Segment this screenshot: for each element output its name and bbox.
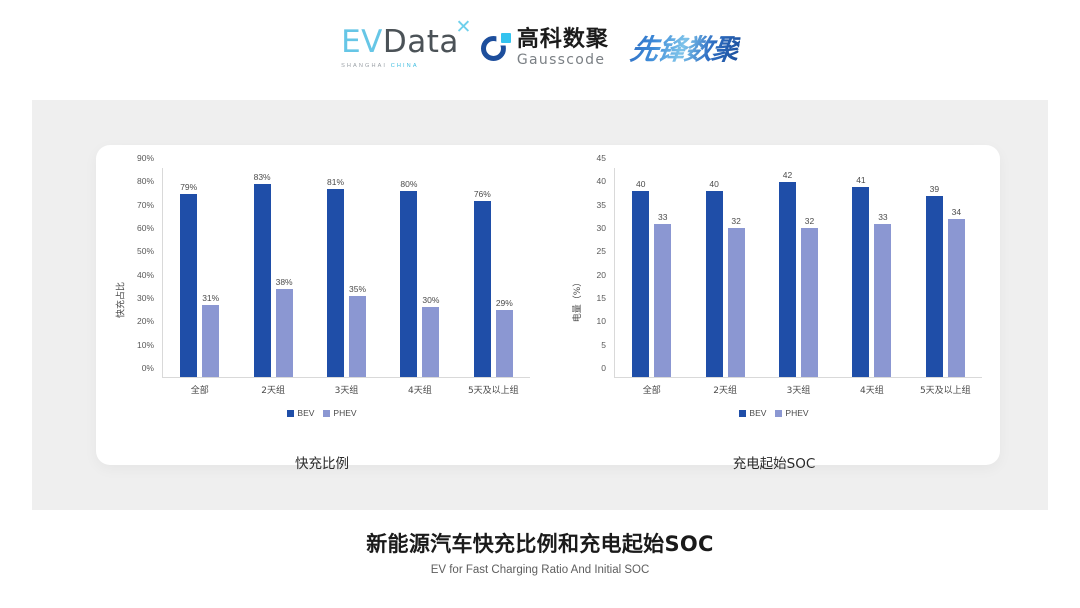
legend-label-bev: BEV xyxy=(297,408,314,418)
y-axis-tick-label: 60% xyxy=(137,223,154,233)
x-axis-tick-label: 4天组 xyxy=(383,383,456,396)
bar-value-label: 39 xyxy=(930,184,939,194)
y-axis-tick-label: 20% xyxy=(137,316,154,326)
evdata-wordmark: EVData ✕ xyxy=(341,27,459,58)
evdata-ev-text: EV xyxy=(341,24,383,60)
logo-bar: EVData ✕ SHANGHAI CHINA 高科数聚 Gausscode 先… xyxy=(0,0,1080,96)
bar-value-label: 80% xyxy=(400,179,417,189)
bar-value-label: 81% xyxy=(327,177,344,187)
bar-value-label: 32 xyxy=(731,216,740,226)
legend-swatch-bev-icon xyxy=(739,410,746,417)
evdata-logo: EVData ✕ SHANGHAI CHINA xyxy=(341,27,459,69)
gausscode-logo: 高科数聚 Gausscode xyxy=(481,29,609,67)
chart-initial-soc: 电量（%） 051015202530354045 403340324232413… xyxy=(548,150,1000,450)
bar-value-label: 34 xyxy=(952,207,961,217)
bar-groups: 40334032423241333934 xyxy=(615,168,982,377)
bar-group: 3934 xyxy=(909,168,982,377)
gausscode-g-mark-icon xyxy=(481,33,511,63)
bar-group: 83%38% xyxy=(236,168,309,377)
legend-swatch-phev-icon xyxy=(323,410,330,417)
bar-group: 81%35% xyxy=(310,168,383,377)
y-axis-tick-label: 0 xyxy=(601,363,606,373)
chart-caption: 快充比例 xyxy=(96,452,548,472)
xianfeng-logo: 先锋数聚 xyxy=(628,28,742,68)
bar-phev[interactable]: 32 xyxy=(728,228,745,377)
page-subtitle: EV for Fast Charging Ratio And Initial S… xyxy=(0,564,1080,576)
y-axis-tick-label: 25 xyxy=(597,246,606,256)
bar-phev[interactable]: 38% xyxy=(276,289,293,377)
bar-phev[interactable]: 30% xyxy=(422,307,439,377)
x-axis-tick-label: 全部 xyxy=(615,383,688,396)
legend-item-bev[interactable]: BEV xyxy=(287,408,314,418)
bar-value-label: 30% xyxy=(422,295,439,305)
charts-row: 快充占比 0%10%20%30%40%50%60%70%80%90% 79%31… xyxy=(96,150,1000,450)
y-axis-tick-label: 40 xyxy=(597,176,606,186)
gausscode-en-text: Gausscode xyxy=(517,53,609,67)
y-axis-tick-label: 10% xyxy=(137,340,154,350)
y-axis-tick-label: 50% xyxy=(137,246,154,256)
bar-value-label: 33 xyxy=(878,212,887,222)
x-axis-labels: 全部2天组3天组4天组5天及以上组 xyxy=(615,383,982,396)
bar-value-label: 42 xyxy=(783,170,792,180)
bar-bev[interactable]: 41 xyxy=(852,187,869,377)
y-axis-tick-label: 30% xyxy=(137,293,154,303)
legend-item-bev[interactable]: BEV xyxy=(739,408,766,418)
g-square-shape xyxy=(501,33,511,43)
bar-group: 4032 xyxy=(688,168,761,377)
y-axis-tick-label: 5 xyxy=(601,340,606,350)
gausscode-cn-text: 高科数聚 xyxy=(517,29,609,51)
bar-group: 79%31% xyxy=(163,168,236,377)
x-axis-tick-label: 5天及以上组 xyxy=(909,383,982,396)
x-axis-line xyxy=(614,377,982,378)
bar-bev[interactable]: 79% xyxy=(180,194,197,377)
evdata-tagline: SHANGHAI CHINA xyxy=(341,63,419,69)
bar-value-label: 40 xyxy=(636,179,645,189)
bar-bev[interactable]: 80% xyxy=(400,191,417,377)
footer-title-block: 新能源汽车快充比例和充电起始SOC EV for Fast Charging R… xyxy=(0,528,1080,576)
evdata-data-text: Data xyxy=(383,24,459,60)
x-axis-tick-label: 2天组 xyxy=(236,383,309,396)
x-cross-icon: ✕ xyxy=(455,18,471,37)
chart-legend: BEV PHEV xyxy=(96,408,548,418)
y-axis-tick-label: 90% xyxy=(137,153,154,163)
bar-value-label: 32 xyxy=(805,216,814,226)
legend-label-phev: PHEV xyxy=(785,408,808,418)
y-axis-tick-label: 40% xyxy=(137,270,154,280)
bar-phev[interactable]: 33 xyxy=(654,224,671,377)
x-axis-tick-label: 5天及以上组 xyxy=(457,383,530,396)
y-axis-tick-label: 30 xyxy=(597,223,606,233)
bar-value-label: 38% xyxy=(276,277,293,287)
legend-swatch-phev-icon xyxy=(775,410,782,417)
y-axis-tick-label: 20 xyxy=(597,270,606,280)
x-axis-tick-label: 4天组 xyxy=(835,383,908,396)
bar-bev[interactable]: 76% xyxy=(474,201,491,377)
chart-caption: 充电起始SOC xyxy=(548,452,1000,472)
plot-area: 051015202530354045 40334032423241333934 xyxy=(614,168,982,378)
bar-value-label: 79% xyxy=(180,182,197,192)
y-axis-tick-label: 10 xyxy=(597,316,606,326)
gausscode-text-block: 高科数聚 Gausscode xyxy=(517,29,609,67)
bar-value-label: 76% xyxy=(474,189,491,199)
bar-value-label: 33 xyxy=(658,212,667,222)
evdata-city-text: SHANGHAI xyxy=(341,63,387,69)
bar-bev[interactable]: 81% xyxy=(327,189,344,377)
bar-bev[interactable]: 42 xyxy=(779,182,796,377)
y-axis-tick-label: 15 xyxy=(597,293,606,303)
y-axis-tick-label: 70% xyxy=(137,200,154,210)
bar-phev[interactable]: 29% xyxy=(496,310,513,377)
bar-bev[interactable]: 83% xyxy=(254,184,271,377)
bar-group: 76%29% xyxy=(457,168,530,377)
page-title: 新能源汽车快充比例和充电起始SOC xyxy=(0,528,1080,558)
legend-label-bev: BEV xyxy=(749,408,766,418)
y-axis-tick-label: 45 xyxy=(597,153,606,163)
x-axis-line xyxy=(162,377,530,378)
bar-phev[interactable]: 32 xyxy=(801,228,818,377)
bar-phev[interactable]: 34 xyxy=(948,219,965,377)
chart-fast-charging-ratio: 快充占比 0%10%20%30%40%50%60%70%80%90% 79%31… xyxy=(96,150,548,450)
x-axis-tick-label: 3天组 xyxy=(762,383,835,396)
legend-swatch-bev-icon xyxy=(287,410,294,417)
x-axis-labels: 全部2天组3天组4天组5天及以上组 xyxy=(163,383,530,396)
y-axis-tick-label: 35 xyxy=(597,200,606,210)
x-axis-tick-label: 3天组 xyxy=(310,383,383,396)
bar-value-label: 29% xyxy=(496,298,513,308)
bar-value-label: 40 xyxy=(709,179,718,189)
bar-group: 4033 xyxy=(615,168,688,377)
bar-groups: 79%31%83%38%81%35%80%30%76%29% xyxy=(163,168,530,377)
bar-group: 4133 xyxy=(835,168,908,377)
evdata-country-text: CHINA xyxy=(391,63,419,69)
y-axis-ticks: 051015202530354045 xyxy=(574,168,610,378)
bar-bev[interactable]: 40 xyxy=(632,191,649,377)
x-axis-tick-label: 2天组 xyxy=(688,383,761,396)
y-axis-ticks: 0%10%20%30%40%50%60%70%80%90% xyxy=(122,168,158,378)
bar-group: 80%30% xyxy=(383,168,456,377)
bar-value-label: 35% xyxy=(349,284,366,294)
bar-phev[interactable]: 35% xyxy=(349,296,366,377)
legend-item-phev[interactable]: PHEV xyxy=(775,408,808,418)
bar-value-label: 41 xyxy=(856,175,865,185)
chart-legend: BEV PHEV xyxy=(548,408,1000,418)
bar-phev[interactable]: 31% xyxy=(202,305,219,377)
bar-bev[interactable]: 39 xyxy=(926,196,943,377)
plot-area: 0%10%20%30%40%50%60%70%80%90% 79%31%83%3… xyxy=(162,168,530,378)
bar-phev[interactable]: 33 xyxy=(874,224,891,377)
legend-item-phev[interactable]: PHEV xyxy=(323,408,356,418)
x-axis-tick-label: 全部 xyxy=(163,383,236,396)
slide-root: { "logos": { "evdata": { "ev": "EV", "da… xyxy=(0,0,1080,608)
legend-label-phev: PHEV xyxy=(333,408,356,418)
bar-value-label: 83% xyxy=(254,172,271,182)
bar-value-label: 31% xyxy=(202,293,219,303)
bar-bev[interactable]: 40 xyxy=(706,191,723,377)
y-axis-tick-label: 0% xyxy=(142,363,154,373)
y-axis-tick-label: 80% xyxy=(137,176,154,186)
bar-group: 4232 xyxy=(762,168,835,377)
